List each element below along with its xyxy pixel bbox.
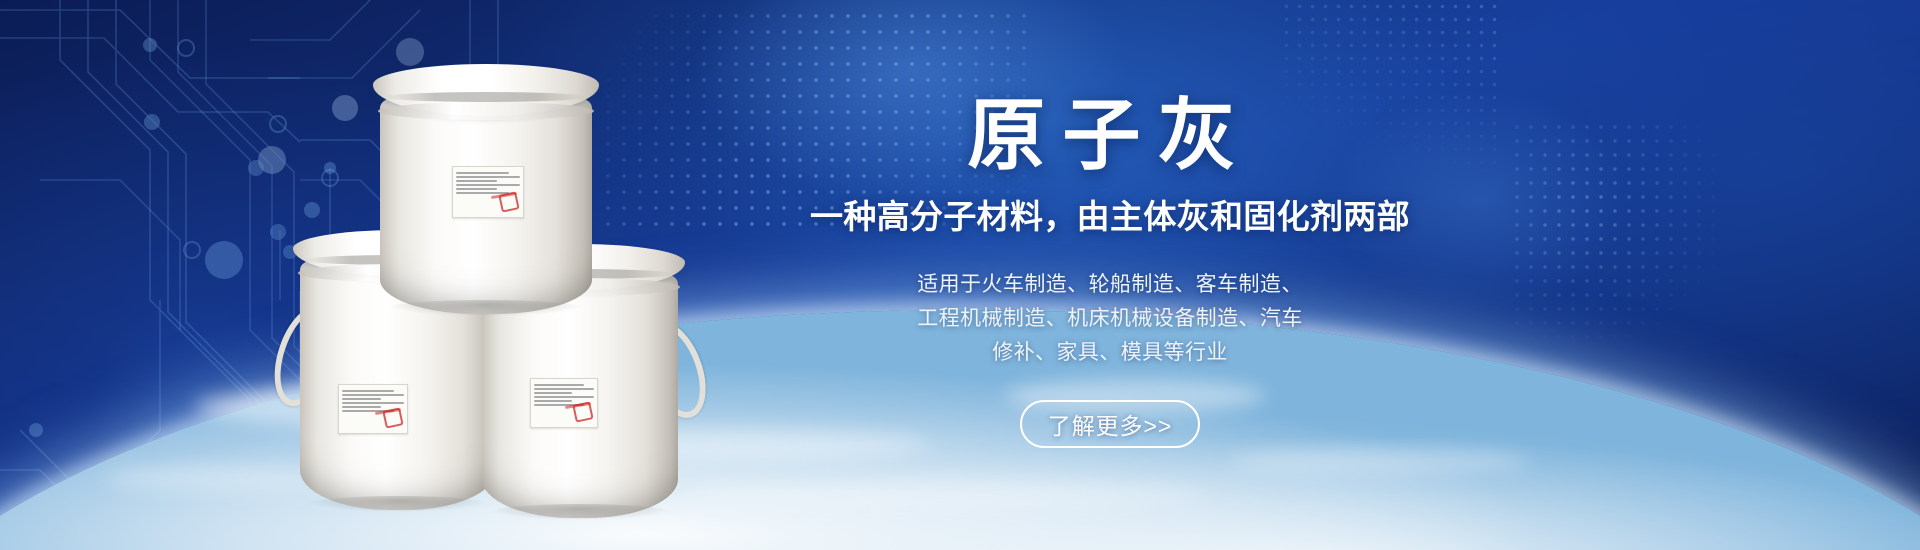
description-line-1: 适用于火车制造、轮船制造、客车制造、 <box>720 268 1500 302</box>
banner-subtitle: 一种高分子材料，由主体灰和固化剂两部 <box>720 190 1500 238</box>
bucket-label <box>452 166 524 218</box>
banner-title: 原子灰 <box>720 96 1500 176</box>
description-line-3: 修补、家具、模具等行业 <box>720 336 1500 370</box>
red-stamp <box>498 191 519 212</box>
banner-description: 适用于火车制造、轮船制造、客车制造、 工程机械制造、机床机械设备制造、汽车 修补… <box>720 268 1500 370</box>
description-line-2: 工程机械制造、机床机械设备制造、汽车 <box>720 302 1500 336</box>
learn-more-button[interactable]: 了解更多>> <box>1020 400 1200 448</box>
bucket-top <box>380 98 592 314</box>
dot-grid-right <box>1510 120 1720 340</box>
red-stamp <box>382 407 403 428</box>
product-image-group <box>300 80 790 550</box>
bucket-rim <box>378 102 594 120</box>
red-stamp <box>572 401 593 422</box>
product-banner: 原子灰 一种高分子材料，由主体灰和固化剂两部 适用于火车制造、轮船制造、客车制造… <box>0 0 1920 550</box>
banner-copy: 原子灰 一种高分子材料，由主体灰和固化剂两部 适用于火车制造、轮船制造、客车制造… <box>720 96 1500 448</box>
bucket-label <box>338 384 408 434</box>
bucket-label <box>530 378 598 428</box>
